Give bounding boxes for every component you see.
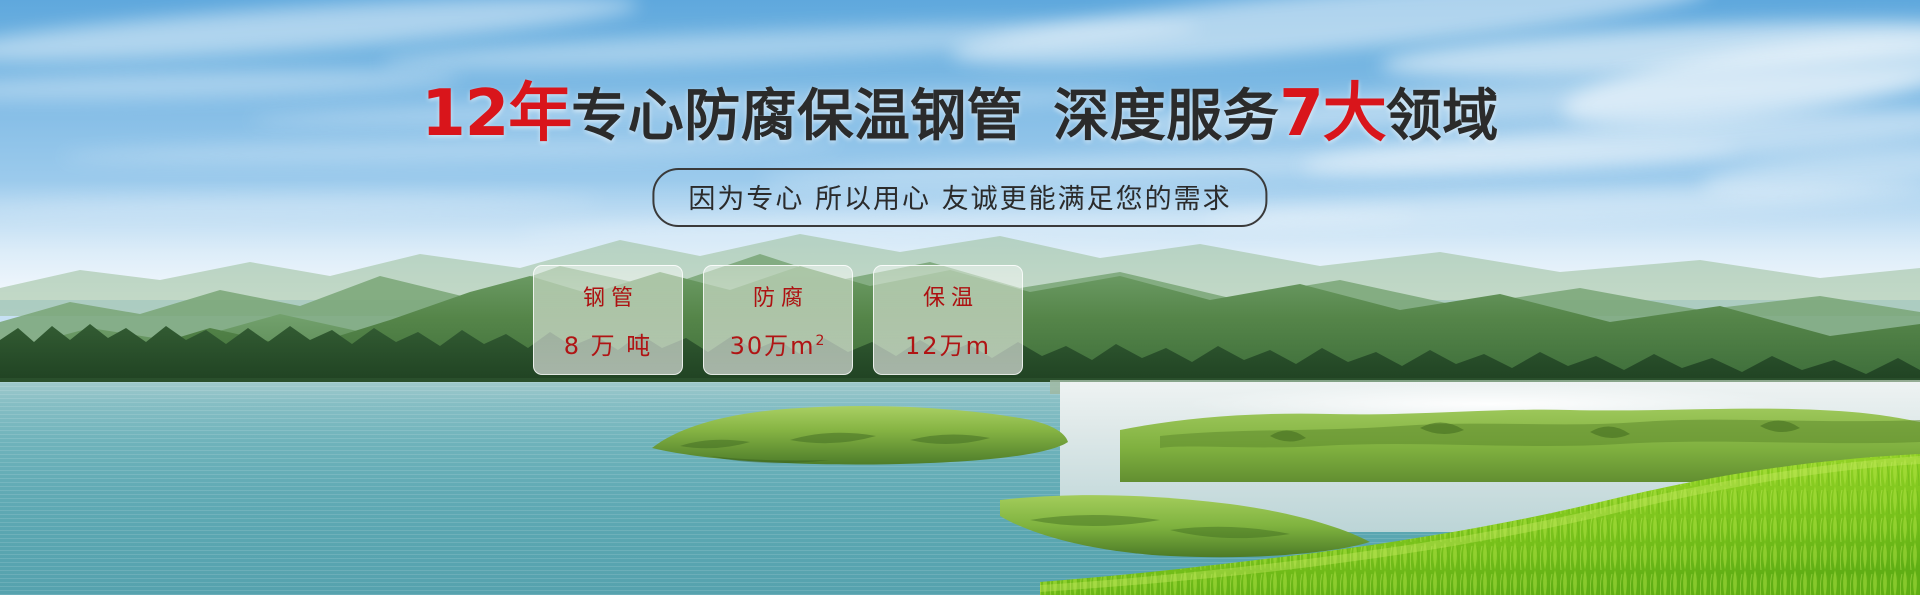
stat-card-anticorrosion[interactable]: 防腐 30万m2 xyxy=(703,265,853,375)
stat-card-title: 防腐 xyxy=(747,280,809,312)
headline-fields: 领域 xyxy=(1386,84,1499,149)
stat-card-value-text: 30万m xyxy=(730,332,816,360)
stat-card-value-text: 8 万 吨 xyxy=(564,332,653,360)
stat-card-title: 钢管 xyxy=(577,280,639,312)
page-title: 12年专心防腐保温钢管深度服务7大领域 xyxy=(0,82,1920,146)
stat-card-insulation[interactable]: 保温 12万m xyxy=(873,265,1023,375)
stat-card-value: 30万m2 xyxy=(730,326,827,361)
headline-fields-number: 7大 xyxy=(1279,77,1386,151)
headline-service: 深度服务 xyxy=(1053,84,1279,149)
headline-main: 专心防腐保温钢管 xyxy=(571,84,1023,149)
subtitle-text: 因为专心 所以用心 友诚更能满足您的需求 xyxy=(688,184,1231,215)
subtitle-pill: 因为专心 所以用心 友诚更能满足您的需求 xyxy=(652,168,1267,227)
stat-card-steel-pipe[interactable]: 钢管 8 万 吨 xyxy=(533,265,683,375)
stat-card-title: 保温 xyxy=(917,280,979,312)
stat-card-value-text: 12万m xyxy=(905,332,991,360)
stat-card-value: 12万m xyxy=(905,326,991,361)
hero-banner: 12年专心防腐保温钢管深度服务7大领域 因为专心 所以用心 友诚更能满足您的需求… xyxy=(0,0,1920,595)
grass-island-center xyxy=(640,392,1070,472)
headline-years: 12年 xyxy=(421,77,571,151)
stat-card-value: 8 万 吨 xyxy=(564,326,653,361)
foreground-grass xyxy=(1040,430,1920,595)
stat-card-group: 钢管 8 万 吨 防腐 30万m2 保温 12万m xyxy=(533,265,1023,375)
stat-card-value-exponent: 2 xyxy=(816,333,827,349)
